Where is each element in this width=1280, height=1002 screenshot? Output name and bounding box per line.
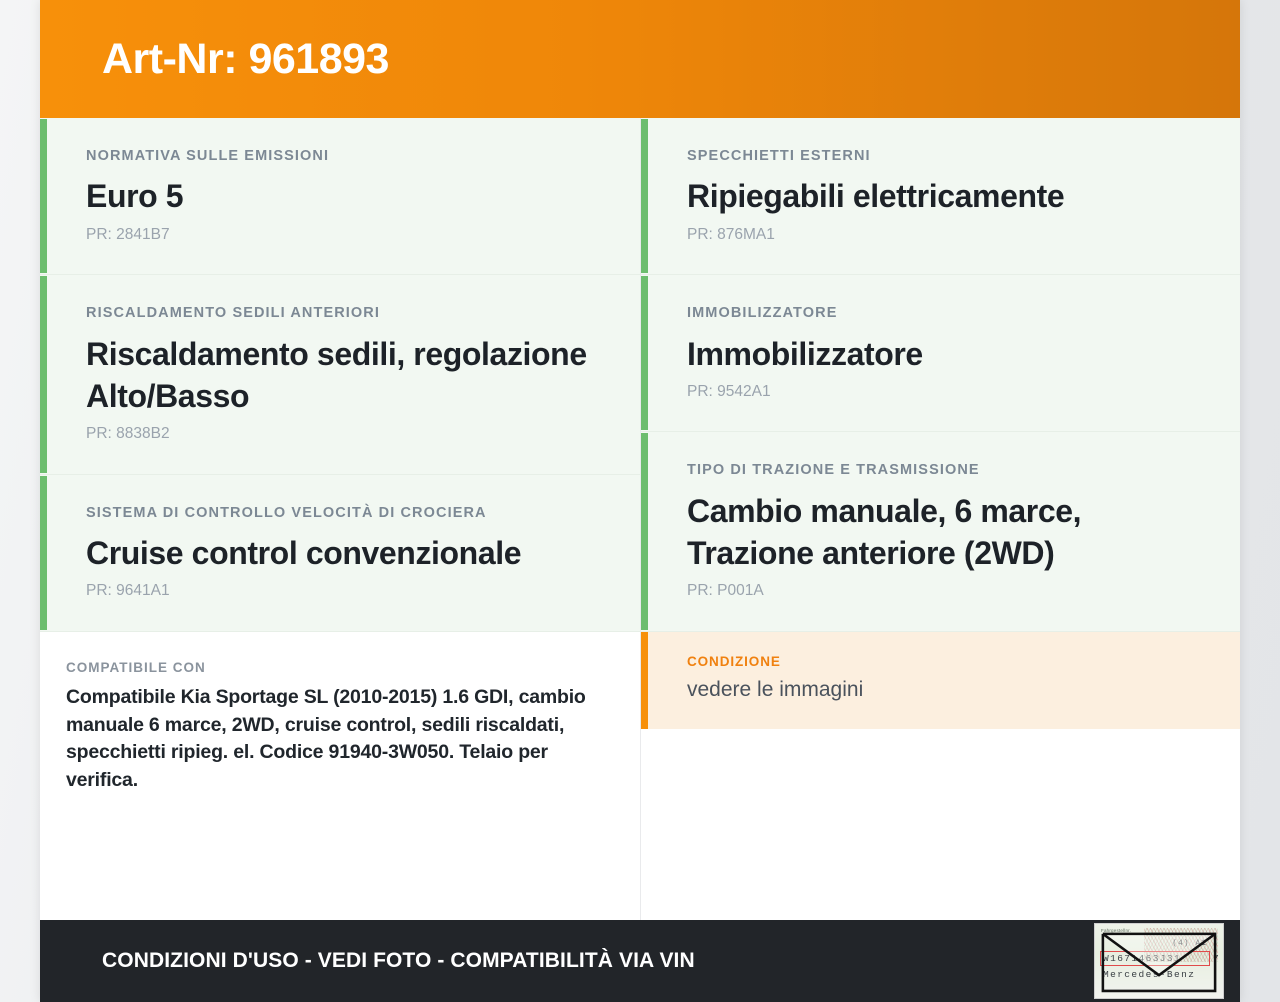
compatibility-block: Compatibile con Compatibile Kia Sportage… xyxy=(40,632,640,825)
compatibility-text: Compatibile Kia Sportage SL (2010-2015) … xyxy=(66,684,600,795)
spec-card-mirrors[interactable]: Specchietti esterni Ripiegabili elettric… xyxy=(641,118,1240,275)
spec-card-emissions[interactable]: Normativa sulle emissioni Euro 5 PR: 284… xyxy=(40,118,640,275)
spec-label: Riscaldamento sedili anteriori xyxy=(86,305,610,322)
spec-value: Cruise control convenzionale xyxy=(86,532,610,574)
spec-card-cruise-control[interactable]: Sistema di controllo velocità di crocier… xyxy=(40,475,640,632)
page-footer: CONDIZIONI D'USO - VEDI FOTO - COMPATIBI… xyxy=(40,920,1240,1002)
spec-pr-code: PR: 876MA1 xyxy=(687,226,1211,245)
spec-pr-code: PR: 9641A1 xyxy=(86,582,610,601)
vehicle-make: Mercedes-Benz xyxy=(1103,969,1195,980)
spec-pr-code: PR: P001A xyxy=(687,582,1211,601)
spec-value: Ripiegabili elettricamente xyxy=(687,175,1211,217)
spec-label: Immobilizzatore xyxy=(687,305,1211,322)
spec-columns: Normativa sulle emissioni Euro 5 PR: 284… xyxy=(40,118,1240,920)
vin-document-thumbnail[interactable]: Fahrgestellnr. (4) A1 W1671463J31 7 Merc… xyxy=(1094,923,1224,999)
document-field-code: (4) A1 xyxy=(1172,939,1207,948)
spec-value: Immobilizzatore xyxy=(687,333,1211,375)
spec-label: Tipo di trazione e trasmissione xyxy=(687,462,1211,479)
spec-value: Cambio manuale, 6 marce, Trazione anteri… xyxy=(687,490,1211,574)
spec-label: Normativa sulle emissioni xyxy=(86,148,610,165)
spec-card-seat-heating[interactable]: Riscaldamento sedili anteriori Riscaldam… xyxy=(40,275,640,474)
vin-caption: Fahrgestellnr. xyxy=(1101,928,1131,933)
spec-value: Riscaldamento sedili, regolazione Alto/B… xyxy=(86,333,610,417)
spec-value: Euro 5 xyxy=(86,175,610,217)
vin-number-tail: 7 xyxy=(1213,953,1219,964)
spec-label: Sistema di controllo velocità di crocier… xyxy=(86,505,610,522)
condition-label: Condizione xyxy=(687,654,1211,670)
compatibility-label: Compatibile con xyxy=(66,660,600,675)
right-column-spacer xyxy=(641,729,1240,920)
spec-pr-code: PR: 2841B7 xyxy=(86,226,610,245)
page-title: Art-Nr: 961893 xyxy=(102,38,389,81)
left-column-spacer xyxy=(40,825,640,920)
spec-label: Specchietti esterni xyxy=(687,148,1211,165)
product-info-page: Art-Nr: 961893 Normativa sulle emissioni… xyxy=(40,0,1240,1002)
spec-card-immobilizer[interactable]: Immobilizzatore Immobilizzatore PR: 9542… xyxy=(641,275,1240,432)
spec-card-condition[interactable]: Condizione vedere le immagini xyxy=(641,632,1240,729)
page-header: Art-Nr: 961893 xyxy=(40,0,1240,118)
spec-column-left: Normativa sulle emissioni Euro 5 PR: 284… xyxy=(40,118,641,920)
footer-notice: CONDIZIONI D'USO - VEDI FOTO - COMPATIBI… xyxy=(102,949,695,973)
vin-number: W1671463J31 xyxy=(1103,953,1181,964)
spec-column-right: Specchietti esterni Ripiegabili elettric… xyxy=(641,118,1240,920)
spec-pr-code: PR: 9542A1 xyxy=(687,383,1211,402)
spec-card-drivetrain[interactable]: Tipo di trazione e trasmissione Cambio m… xyxy=(641,432,1240,631)
spec-pr-code: PR: 8838B2 xyxy=(86,425,610,444)
condition-value: vedere le immagini xyxy=(687,676,1211,703)
